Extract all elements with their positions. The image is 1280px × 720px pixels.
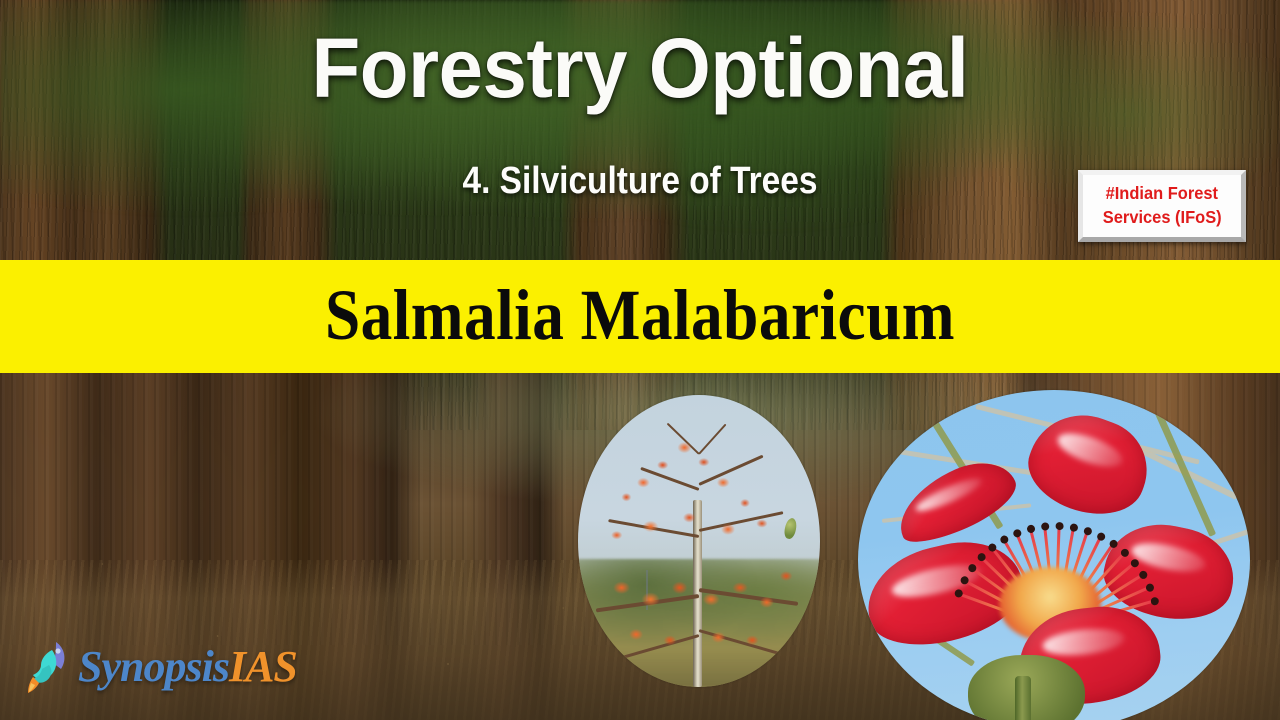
synopsis-ias-logo[interactable]: SynopsisIAS bbox=[22, 638, 297, 696]
flowering-tree-photo bbox=[578, 395, 820, 687]
logo-text-synopsis: Synopsis bbox=[78, 642, 229, 691]
logo-text: SynopsisIAS bbox=[78, 645, 297, 689]
page-title: Forestry Optional bbox=[32, 26, 1248, 112]
rocket-icon bbox=[22, 638, 74, 696]
slide-canvas: Forestry Optional 4. Silviculture of Tre… bbox=[0, 0, 1280, 720]
logo-text-ias: IAS bbox=[229, 642, 297, 691]
tree-photo-blossoms bbox=[578, 395, 820, 687]
indian-forest-services-badge: #Indian Forest Services (IFoS) bbox=[1078, 170, 1246, 242]
species-banner: Salmalia Malabaricum bbox=[0, 260, 1280, 373]
badge-line-2: Services (IFoS) bbox=[1103, 206, 1222, 230]
badge-line-1: #Indian Forest bbox=[1106, 182, 1218, 206]
red-flower-closeup-photo bbox=[858, 390, 1250, 720]
flower-stem bbox=[1015, 676, 1031, 720]
page-subtitle: 4. Silviculture of Trees bbox=[77, 160, 1203, 203]
species-name: Salmalia Malabaricum bbox=[325, 274, 955, 357]
